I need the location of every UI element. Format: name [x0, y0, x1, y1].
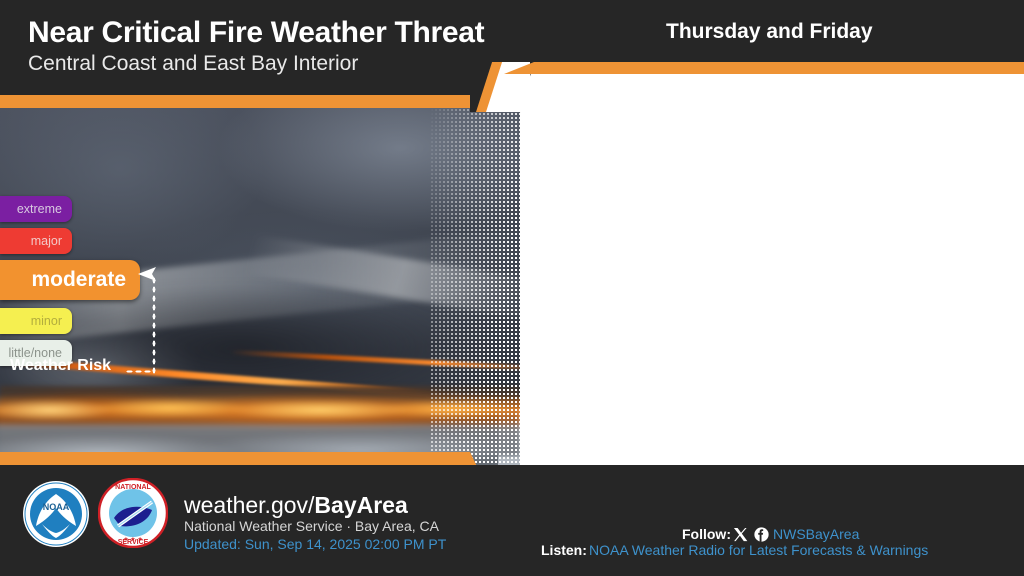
listen-label: Listen: [541, 542, 587, 558]
social-handle[interactable]: NWSBayArea [773, 526, 859, 542]
risk-level-minor[interactable]: minor [0, 308, 72, 334]
office-label: National Weather Service · Bay Area, CA [184, 518, 439, 534]
risk-pointer-dots-vertical [152, 276, 156, 374]
header-bar: Near Critical Fire Weather Threat Centra… [0, 0, 1024, 62]
national-weather-service-logo: NATIONAL SERVICE ★ ★ ★ [98, 478, 168, 553]
risk-level-moderate-selected[interactable]: moderate [0, 260, 140, 300]
page-title: Near Critical Fire Weather Threat [28, 16, 484, 50]
page-subtitle: Central Coast and East Bay Interior [28, 52, 358, 76]
info-panel [498, 62, 1024, 512]
follow-label: Follow: [682, 526, 731, 542]
noaa-logo: NOAA [22, 480, 90, 553]
svg-text:NOAA: NOAA [43, 502, 70, 512]
website-bold: BayArea [314, 492, 407, 518]
weather-risk-scale: extreme major moderate minor little/none [0, 196, 230, 372]
infographic-root: Isolated (10-30% chance) dry thunderstor… [0, 0, 1024, 576]
website-plain: weather.gov/ [184, 492, 314, 518]
risk-pointer-dots-horizontal [125, 370, 155, 373]
header-left-accent-bar [0, 95, 498, 108]
timeframe-label: Thursday and Friday [666, 20, 873, 44]
weather-risk-label: Weather Risk [10, 357, 111, 375]
risk-level-extreme[interactable]: extreme [0, 196, 72, 222]
updated-timestamp: Updated: Sun, Sep 14, 2025 02:00 PM PT [184, 536, 446, 552]
svg-text:NATIONAL: NATIONAL [115, 484, 151, 491]
svg-text:★ ★ ★: ★ ★ ★ [123, 536, 142, 543]
photo-bottom-accent-bar [0, 452, 470, 465]
risk-level-major[interactable]: major [0, 228, 72, 254]
website-label[interactable]: weather.gov/BayArea [184, 492, 408, 519]
panel-top-accent-bar [504, 62, 1024, 74]
noaa-weather-radio-link[interactable]: NOAA Weather Radio for Latest Forecasts … [589, 542, 928, 558]
risk-pointer-arrow-icon [136, 266, 158, 287]
